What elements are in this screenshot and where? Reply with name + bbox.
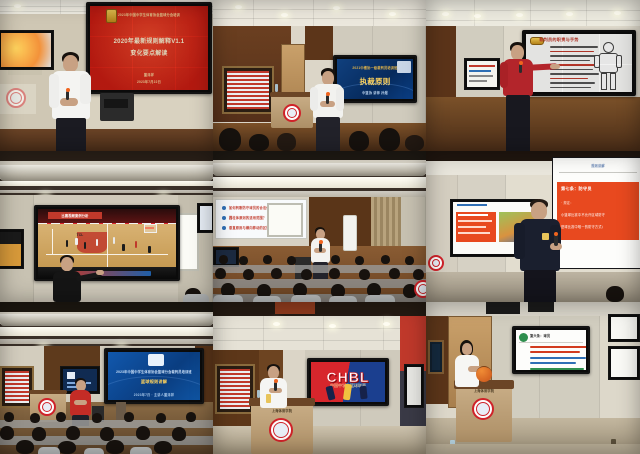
slide-title: 第六条：球员 <box>530 333 582 338</box>
wood-panel-wall <box>426 26 456 98</box>
ceiling-light <box>14 4 21 8</box>
presenter <box>307 68 351 151</box>
audience-head <box>243 269 254 280</box>
collage-panel-bottom-right[interactable]: 第六条：球员 上海体育学院 <box>426 302 640 454</box>
audience-shirt <box>183 294 209 302</box>
presenter <box>255 364 293 408</box>
strip-light <box>0 190 213 193</box>
side-monitor[interactable] <box>197 203 213 233</box>
ceiling-duct <box>0 165 213 181</box>
audience-head <box>381 255 390 264</box>
ceiling <box>213 316 426 350</box>
air-conditioner <box>343 215 357 251</box>
presenter-head <box>462 343 472 355</box>
audience-head <box>249 134 269 151</box>
table-edge <box>426 444 640 454</box>
ceiling-light <box>389 12 396 16</box>
audience-head <box>172 427 186 441</box>
presentation-screen[interactable]: 第六条：球员 <box>512 326 590 374</box>
audience-head <box>219 255 228 264</box>
ceiling-light <box>329 324 336 328</box>
floor <box>213 426 426 454</box>
collage-panel-middle-left[interactable]: 比赛视频案例分析 TCL <box>0 151 213 302</box>
ceiling <box>426 0 640 26</box>
audience-head <box>349 131 369 151</box>
audience-head <box>4 412 14 422</box>
presenter-arm <box>80 74 91 104</box>
ceiling-light <box>281 13 288 17</box>
audience-head <box>263 255 272 264</box>
audience-head <box>219 128 241 151</box>
audience-head <box>301 269 312 280</box>
player <box>135 241 138 248</box>
presenter-head <box>61 257 73 271</box>
presenter-head <box>63 55 78 72</box>
audience-head <box>277 133 296 151</box>
audience-head <box>606 286 624 302</box>
ceiling-duct <box>0 314 213 326</box>
floor <box>0 129 213 151</box>
microphone <box>326 95 329 104</box>
presenter-legs <box>524 270 556 302</box>
strip-light <box>0 181 213 186</box>
presenter <box>512 199 574 302</box>
audience-head <box>136 426 150 440</box>
ceiling-light <box>333 6 340 10</box>
strip-light <box>0 327 213 336</box>
water-bottle <box>275 84 278 92</box>
wall-emblem <box>428 255 444 271</box>
audience-head <box>405 256 414 265</box>
slide-header: 2023年中国中学生体育协会篮球分会裁判员培训班 <box>108 369 200 374</box>
presenter-legs <box>506 95 530 151</box>
ceiling-light <box>383 322 390 326</box>
upper-dark-band <box>213 302 426 316</box>
player <box>84 242 87 249</box>
collage-panel-middle-center[interactable]: 如何判断防守球员的合法位置？ 圆柱体原则的适用范围？ 垂直原则与横向移动的区别？ <box>213 151 426 302</box>
upper-dark-band <box>213 151 426 160</box>
ceiling-light <box>566 12 573 16</box>
audience-head <box>329 268 340 279</box>
presenter <box>498 42 558 151</box>
player <box>148 246 151 253</box>
podium-emblem <box>472 398 494 420</box>
banner-text: 比赛视频案例分析 <box>48 213 102 218</box>
podium-label: 上海体育学院 <box>251 408 313 413</box>
presenter-head <box>511 45 524 60</box>
microphone <box>274 382 277 391</box>
ceiling-light <box>235 5 242 9</box>
audience-head <box>32 427 46 441</box>
upper-dark-band <box>0 302 213 312</box>
audience-head <box>215 268 226 279</box>
microphone <box>319 243 322 252</box>
collage-panel-top-right[interactable]: 裁判员的职责与手势 <box>426 0 640 151</box>
audience-head <box>287 256 296 265</box>
ceiling-light <box>516 13 523 17</box>
presenter-head <box>531 202 547 220</box>
presenter <box>44 52 98 151</box>
wall-emblem <box>414 280 426 298</box>
presentation-screen[interactable]: CHBL 中国中学生篮球联赛 <box>307 358 389 406</box>
ceiling-light <box>614 11 621 15</box>
podium-emblem <box>269 418 293 442</box>
audience-head <box>186 412 196 422</box>
collage-panel-top-center[interactable]: 2021中楼协一级裁判员培训班 执裁原则 中篮协 讲师 孙煜 <box>213 0 426 151</box>
ceiling-fixture <box>528 302 554 312</box>
podium-emblem <box>283 104 301 122</box>
shirt-badge <box>542 233 549 240</box>
audience-shirt <box>38 447 60 454</box>
curtain <box>371 197 401 251</box>
audience-head <box>389 268 400 279</box>
presenter-head <box>322 71 334 85</box>
audience-head <box>30 413 40 423</box>
audience-shirt <box>84 448 104 454</box>
audience-head <box>379 128 400 151</box>
side-monitor[interactable] <box>608 314 640 342</box>
audience-head <box>100 427 114 441</box>
side-monitor[interactable] <box>0 229 24 269</box>
audience-head <box>106 440 124 454</box>
audience-head <box>16 440 34 454</box>
audience-head <box>0 426 14 440</box>
strip-light <box>0 339 213 344</box>
ceiling-light <box>474 14 481 18</box>
audience-head <box>239 256 248 265</box>
microphone <box>66 91 69 100</box>
microphone <box>554 235 558 246</box>
collage-panel-middle-right[interactable]: 规则讲解 第七条：防守员 · 规定： 小篮球比赛中不允许区域防守 是球比赛中唯一… <box>426 151 640 302</box>
slide-title: 第七条：防守员 <box>561 186 635 192</box>
presenter-legs <box>316 117 340 151</box>
audience-head <box>124 412 134 422</box>
audience-head <box>66 426 80 440</box>
courtside-ad: TCL <box>68 233 92 237</box>
chbl-slide: CHBL 中国中学生篮球联赛 <box>311 362 385 402</box>
player <box>113 237 116 244</box>
slide-header: 规则讲解 <box>553 163 640 168</box>
basketball <box>476 366 492 382</box>
player <box>66 240 69 247</box>
upper-dark-band <box>0 151 213 161</box>
audience-shirt <box>291 295 321 302</box>
podium-emblem <box>38 398 56 416</box>
player <box>122 244 125 251</box>
presenter-arm <box>49 74 59 108</box>
ceiling-light <box>442 12 449 16</box>
lanyard-badge <box>266 394 271 403</box>
seat-row <box>213 279 426 288</box>
presenter-legs <box>56 118 86 151</box>
display-cabinet <box>0 366 34 408</box>
collage-panel-top-left[interactable]: 2023年中国中学生体育协会篮球分会培训 2020年最新规则解释V1.1 变化要… <box>0 0 213 151</box>
side-monitor[interactable] <box>464 58 500 90</box>
audience-head <box>92 413 102 423</box>
display-cabinet <box>222 66 274 114</box>
audience-shirt <box>213 295 243 302</box>
microphone <box>519 64 522 73</box>
red-banner <box>275 302 315 314</box>
audience-head <box>56 412 66 422</box>
led-wall-screen[interactable]: 2023年中国中学生体育协会篮球分会裁判员培训班 篮球规则讲解 2023年7月 … <box>104 348 204 404</box>
presenter <box>452 340 486 390</box>
side-monitor[interactable] <box>404 364 424 408</box>
collage-panel-bottom-center[interactable]: CHBL 中国中学生篮球联赛 上海体育学院 <box>213 302 426 454</box>
audience-head <box>154 441 172 454</box>
photo-collage-grid: 2023年中国中学生体育协会篮球分会培训 2020年最新规则解释V1.1 变化要… <box>0 0 640 454</box>
ceiling-duct <box>213 163 426 176</box>
whiteboard <box>267 203 303 237</box>
side-monitor[interactable] <box>608 346 640 380</box>
ceiling-fixture <box>486 302 520 314</box>
picture-frame <box>428 340 444 374</box>
audience-head <box>359 269 370 280</box>
strip-light <box>213 177 426 188</box>
collage-panel-bottom-left[interactable]: 2023年中国中学生体育协会篮球分会裁判员培训班 篮球规则讲解 2023年7月 … <box>0 302 213 454</box>
audience-shirt <box>130 447 152 454</box>
audience-head <box>413 269 424 280</box>
presenter <box>50 255 102 302</box>
audience-head <box>405 135 424 151</box>
audience-shirt <box>365 295 395 302</box>
audience-head <box>156 413 166 423</box>
audience-head <box>331 255 340 264</box>
audience-head <box>271 268 282 279</box>
player <box>75 238 78 245</box>
ceiling-light <box>273 322 280 326</box>
led-wall-screen[interactable]: 2023年中国中学生体育协会篮球分会培训 2020年最新规则解释V1.1 变化要… <box>86 2 212 94</box>
audience-head <box>355 256 364 265</box>
audience-head <box>58 441 76 454</box>
display-cabinet <box>215 364 255 414</box>
